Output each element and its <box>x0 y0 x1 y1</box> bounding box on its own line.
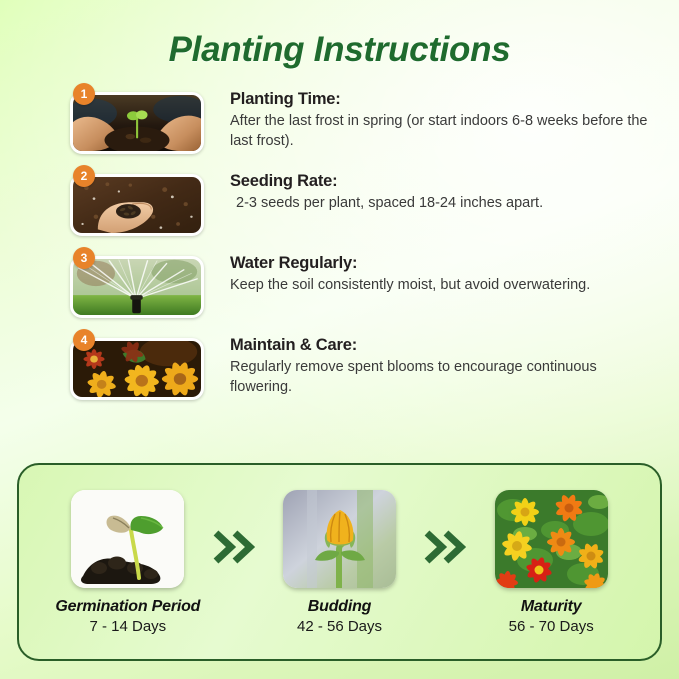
step-2-heading: Seeding Rate: <box>230 172 543 191</box>
timeline-stage-budding: Budding 42 - 56 Days <box>257 490 423 635</box>
step-item-1: 1 <box>70 86 655 154</box>
planting-instructions-infographic: Planting Instructions 1 <box>0 0 679 679</box>
double-chevron-right-icon <box>211 530 257 564</box>
steps-list: 1 <box>0 86 679 400</box>
timeline-stage-maturity: Maturity 56 - 70 Days <box>468 490 634 635</box>
timeline-stage-germination: Germination Period 7 - 14 Days <box>45 490 211 635</box>
step-item-4: 4 <box>70 332 655 400</box>
growth-timeline-panel: Germination Period 7 - 14 Days <box>17 463 662 661</box>
mature-flower-bed-photo <box>495 490 608 588</box>
step-3-text: Water Regularly: Keep the soil consisten… <box>204 250 590 295</box>
flower-bud-photo <box>283 490 396 588</box>
step-1-thumbnail-wrap: 1 <box>70 92 204 154</box>
step-4-body: Regularly remove spent blooms to encoura… <box>230 358 650 397</box>
step-2-thumbnail-wrap: 2 <box>70 174 204 236</box>
stage-days-budding: 42 - 56 Days <box>257 618 423 635</box>
page-title: Planting Instructions <box>0 0 679 70</box>
step-2-text: Seeding Rate: 2-3 seeds per plant, space… <box>204 168 543 213</box>
step-1-text: Planting Time: After the last frost in s… <box>204 86 650 151</box>
step-3-thumbnail-wrap: 3 <box>70 256 204 318</box>
step-2-body: 2-3 seeds per plant, spaced 18-24 inches… <box>230 194 543 213</box>
germinating-seedling-photo <box>71 490 184 588</box>
double-chevron-right-icon-2 <box>422 530 468 564</box>
stage-name-germination: Germination Period <box>45 598 211 616</box>
step-4-heading: Maintain & Care: <box>230 336 650 355</box>
stage-name-maturity: Maturity <box>468 598 634 616</box>
step-4-thumbnail-wrap: 4 <box>70 338 204 400</box>
step-4-text: Maintain & Care: Regularly remove spent … <box>204 332 650 397</box>
stage-days-maturity: 56 - 70 Days <box>468 618 634 635</box>
step-item-3: 3 <box>70 250 655 318</box>
step-3-body: Keep the soil consistently moist, but av… <box>230 276 590 295</box>
stage-name-budding: Budding <box>257 598 423 616</box>
step-1-body: After the last frost in spring (or start… <box>230 112 650 151</box>
step-item-2: 2 <box>70 168 655 236</box>
step-3-heading: Water Regularly: <box>230 254 590 273</box>
stage-days-germination: 7 - 14 Days <box>45 618 211 635</box>
step-1-heading: Planting Time: <box>230 90 650 109</box>
